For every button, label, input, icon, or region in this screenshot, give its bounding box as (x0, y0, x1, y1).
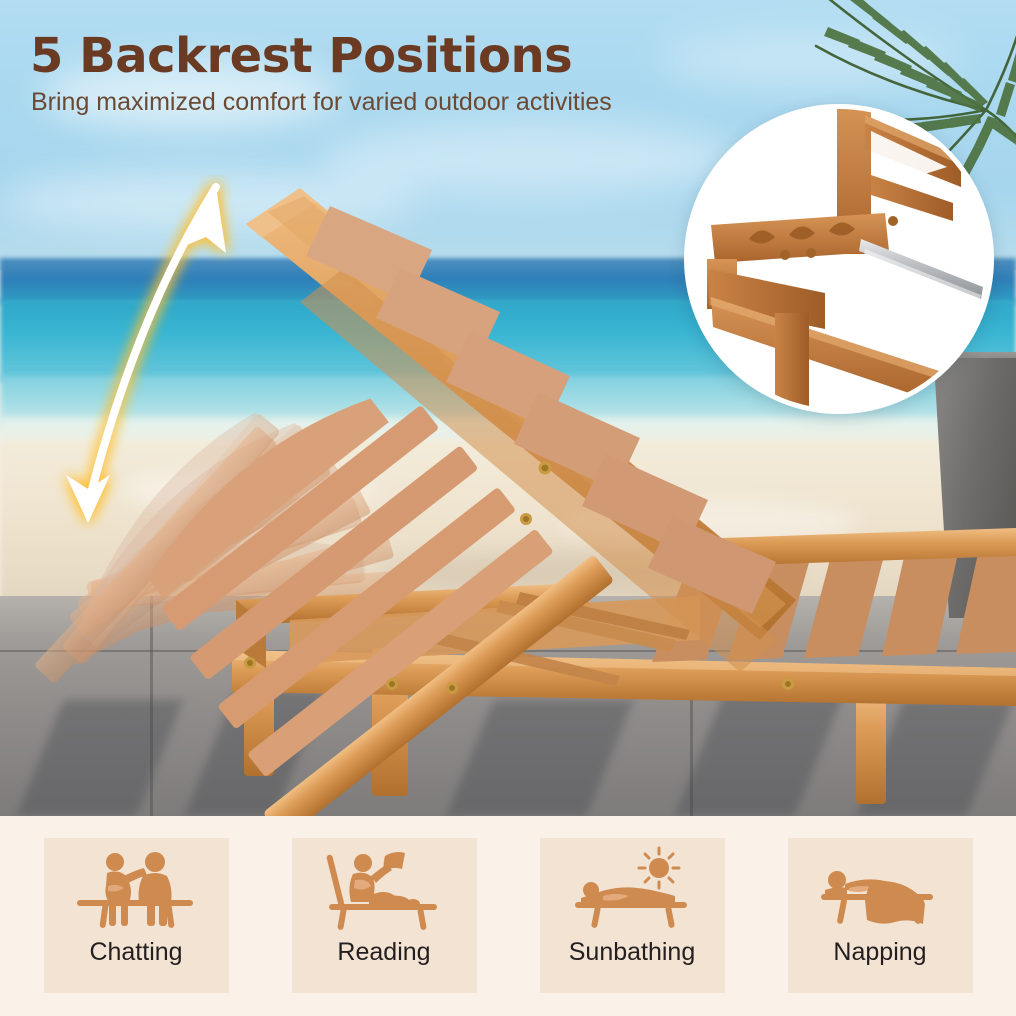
activity-tile-napping[interactable]: Napping (788, 838, 973, 993)
activity-label: Reading (337, 938, 430, 967)
page-subtitle: Bring maximized comfort for varied outdo… (31, 88, 612, 117)
beach-scene-photo (0, 0, 1016, 816)
activity-label: Sunbathing (569, 938, 696, 967)
ratchet-mechanism-detail (684, 104, 994, 414)
product-feature-poster: 5 Backrest Positions Bring maximized com… (0, 0, 1016, 1016)
reading-icon (319, 846, 449, 932)
chair-leg (856, 686, 886, 804)
activity-tiles: Chatting (0, 838, 1016, 998)
arrow-head-down (66, 475, 110, 523)
center-leg (775, 313, 809, 409)
activity-label: Chatting (89, 938, 182, 967)
napping-icon (815, 846, 945, 932)
arrow-stroke (66, 187, 226, 523)
arrow-head-up (182, 187, 226, 253)
chatting-icon (71, 846, 201, 932)
activity-label: Napping (833, 938, 926, 967)
activity-tile-chatting[interactable]: Chatting (44, 838, 229, 993)
activity-tile-reading[interactable]: Reading (292, 838, 477, 993)
sunbathing-icon (567, 846, 697, 932)
activity-feature-strip: Chatting (0, 816, 1016, 1016)
activity-tile-sunbathing[interactable]: Sunbathing (540, 838, 725, 993)
adjust-range-arrow (30, 175, 260, 535)
page-title: 5 Backrest Positions (30, 28, 572, 84)
